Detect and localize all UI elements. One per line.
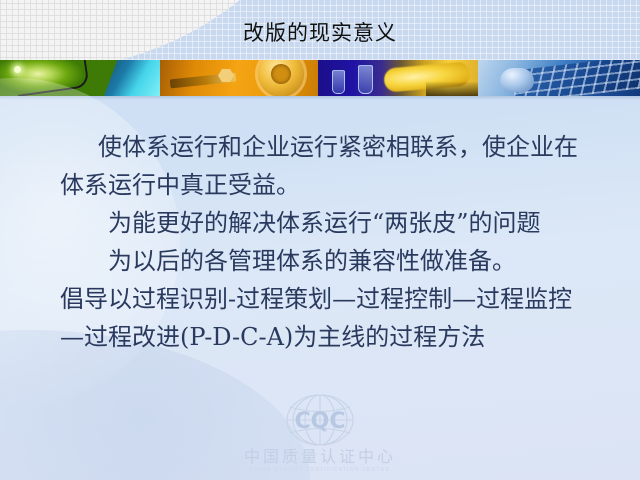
gold-gears-photo: [160, 60, 318, 96]
lab-glassware-photo: [318, 60, 478, 96]
body-paragraph-3: 为以后的各管理体系的兼容性做准备。: [60, 242, 588, 280]
cqc-logo-watermark: CQC 中国质量认证中心 CHINA QUALITY CERTIFICATION…: [0, 392, 640, 474]
body-paragraph-2: 为能更好的解决体系运行“两张皮”的问题: [60, 204, 588, 242]
mouse-shape: [500, 68, 534, 92]
computer-keyboard-photo: [478, 60, 640, 96]
presentation-slide: 改版的现实意义: [0, 0, 640, 480]
slide-body: 使体系运行和企业运行紧密相联系，使企业在体系运行中真正受益。 为能更好的解决体系…: [60, 128, 588, 356]
cqc-globe-icon: CQC: [272, 392, 368, 454]
body-paragraph-4: 倡导以过程识别-过程策划—过程控制—过程监控—过程改进(P-D-C-A)为主线的…: [60, 280, 588, 356]
light-spot-shape: [14, 66, 21, 73]
svg-text:CQC: CQC: [295, 409, 346, 434]
photo-shadow-overlay: [426, 82, 478, 96]
cqc-english-name: CHINA QUALITY CERTIFICATION CENTRE: [0, 466, 640, 474]
photo-strip: [0, 60, 640, 96]
page-title: 改版的现实意义: [0, 20, 640, 46]
test-tube-shape: [332, 70, 345, 94]
gear-hub-shape: [271, 64, 291, 84]
beaker-shape: [358, 65, 373, 94]
body-paragraph-1: 使体系运行和企业运行紧密相联系，使企业在体系运行中真正受益。: [60, 128, 588, 204]
